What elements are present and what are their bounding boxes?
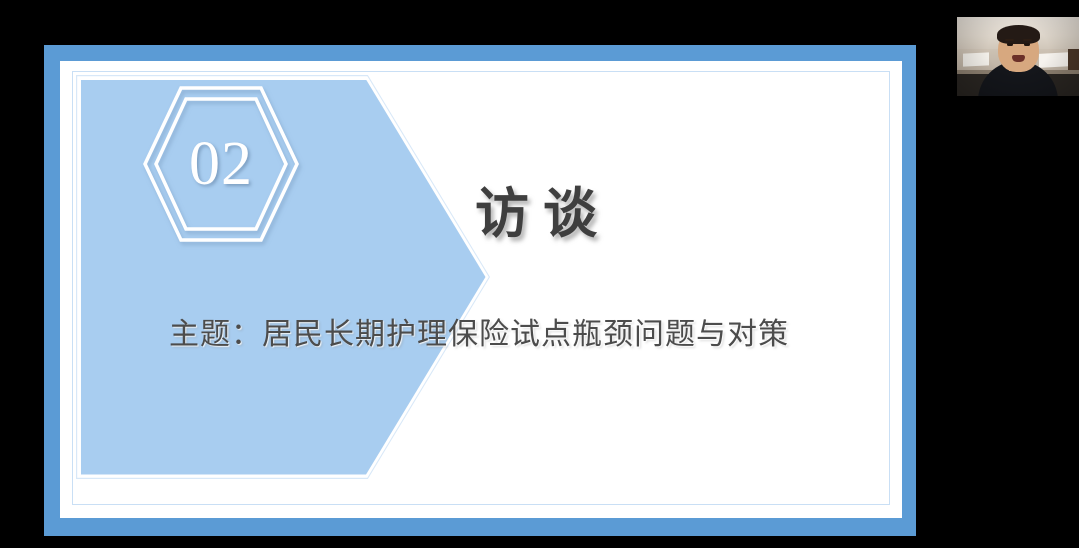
- slide-title: 访谈: [475, 169, 611, 248]
- slide-canvas: 02 访谈 主题：居民长期护理保险试点瓶颈问题与对策: [60, 61, 902, 518]
- presentation-slide[interactable]: 02 访谈 主题：居民长期护理保险试点瓶颈问题与对策: [44, 45, 916, 536]
- slide-subtitle: 主题：居民长期护理保险试点瓶颈问题与对策: [169, 311, 849, 360]
- chevron-block: 02: [73, 72, 493, 482]
- screen-share-stage: 02 访谈 主题：居民长期护理保险试点瓶颈问题与对策: [0, 0, 1079, 548]
- webcam-vignette: [957, 17, 1079, 96]
- section-number-text: 02: [141, 84, 301, 244]
- section-number-badge: 02: [141, 84, 301, 244]
- participant-webcam-tile[interactable]: [957, 17, 1079, 96]
